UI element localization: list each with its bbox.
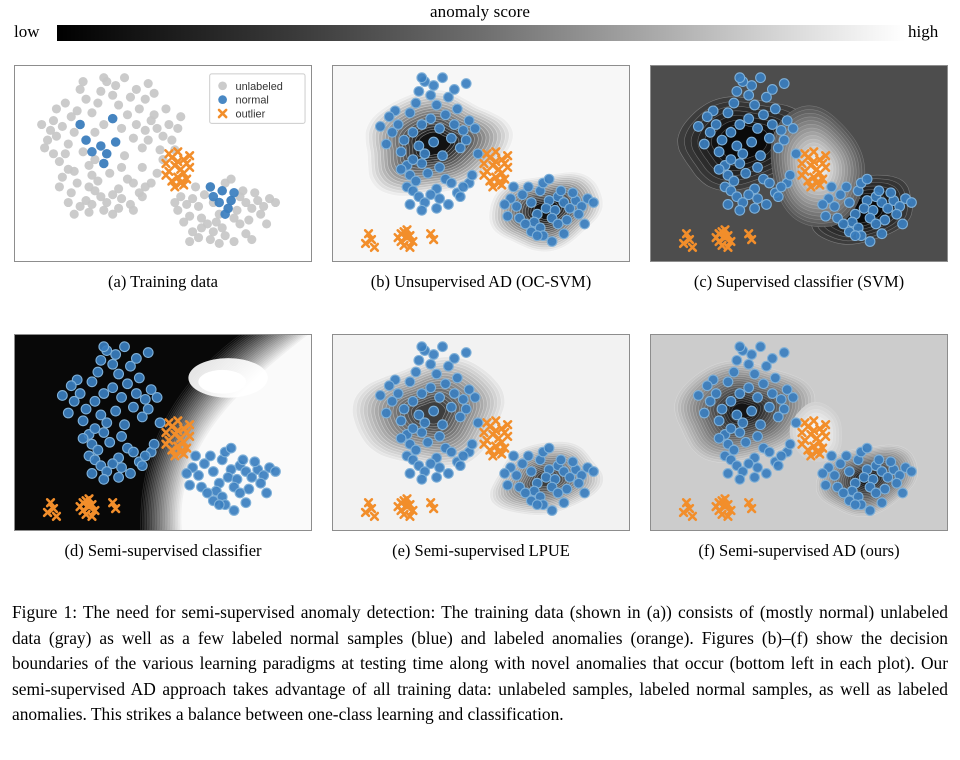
colorbar-title: anomaly score <box>0 2 960 22</box>
colorbar: anomaly score low high <box>0 0 960 56</box>
panel-f-caption: (f) Semi-supervised AD (ours) <box>650 541 948 561</box>
panel-a-caption: (a) Training data <box>14 272 312 292</box>
colorbar-gradient <box>57 25 905 41</box>
panel-e-caption: (e) Semi-supervised LPUE <box>332 541 630 561</box>
panel-f-semi-supervised-ad <box>650 334 948 531</box>
panel-a-training-data: unlabelednormaloutlier <box>14 65 312 262</box>
panel-c-caption: (c) Supervised classifier (SVM) <box>650 272 948 292</box>
panel-b-caption: (b) Unsupervised AD (OC-SVM) <box>332 272 630 292</box>
legend-label: unlabeled <box>236 81 283 93</box>
figure-caption: Figure 1: The need for semi-supervised a… <box>12 600 948 728</box>
legend-label: outlier <box>236 108 266 120</box>
panel-d-semi-supervised-classifier <box>14 334 312 531</box>
colorbar-low-label: low <box>14 22 40 42</box>
caption-line: Figure 1: The need for semi-supervised a… <box>12 602 733 622</box>
panel-c-supervised-classifier <box>650 65 948 262</box>
figure-root: anomaly score low high unlabelednormalou… <box>0 0 960 760</box>
panel-d-caption: (d) Semi-supervised classifier <box>14 541 312 561</box>
panel-e-semi-supervised-lpue <box>332 334 630 531</box>
panel-b-unsupervised-ad <box>332 65 630 262</box>
legend-label: normal <box>236 95 269 107</box>
colorbar-high-label: high <box>908 22 938 42</box>
caption-line: AD approach takes advantage of all train… <box>131 679 834 699</box>
